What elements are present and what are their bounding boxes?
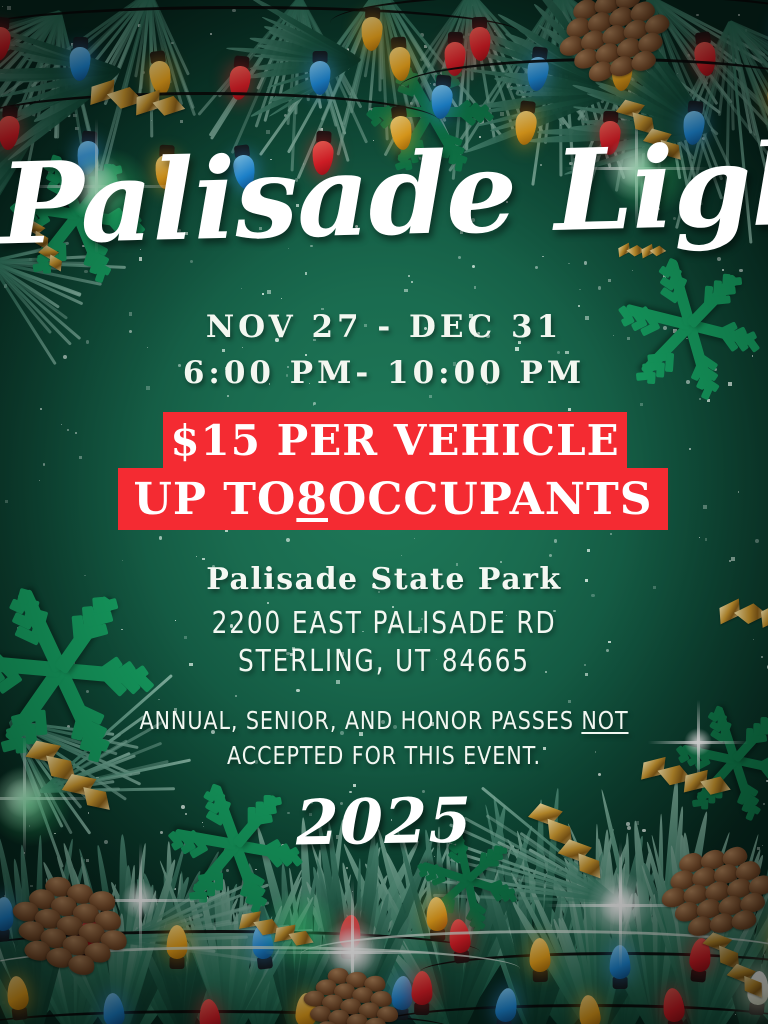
- holiday-event-flyer: Palisade Lights NOV 27 - DEC 31 6:00 PM-…: [0, 0, 768, 1024]
- pass-restriction-note-line2: ACCEPTED FOR THIS EVENT.: [31, 741, 738, 770]
- occupant-limit-prefix: UP TO: [134, 474, 297, 525]
- event-year: 2025: [0, 778, 768, 864]
- pass-restriction-prefix: ANNUAL, SENIOR, AND HONOR PASSES: [139, 706, 581, 735]
- event-time-range: 6:00 PM- 10:00 PM: [0, 355, 768, 391]
- occupant-limit-band: UP TO 8 OCCUPANTS: [118, 468, 668, 530]
- occupant-limit-suffix: OCCUPANTS: [328, 474, 653, 525]
- page-title: Palisade Lights: [0, 131, 768, 262]
- pass-restriction-note-line1: ANNUAL, SENIOR, AND HONOR PASSES NOT: [31, 706, 738, 735]
- event-date-range: NOV 27 - DEC 31: [0, 309, 768, 345]
- occupant-limit-number: 8: [296, 474, 328, 525]
- price-per-vehicle-band: $15 PER VEHICLE: [163, 412, 627, 468]
- pass-restriction-emphasis: NOT: [581, 706, 628, 735]
- address-street: 2200 EAST PALISADE RD: [31, 606, 738, 641]
- price-per-vehicle-text: $15 PER VEHICLE: [170, 416, 619, 465]
- address-city-state-zip: STERLING, UT 84665: [31, 644, 738, 679]
- venue-name: Palisade State Park: [0, 562, 768, 597]
